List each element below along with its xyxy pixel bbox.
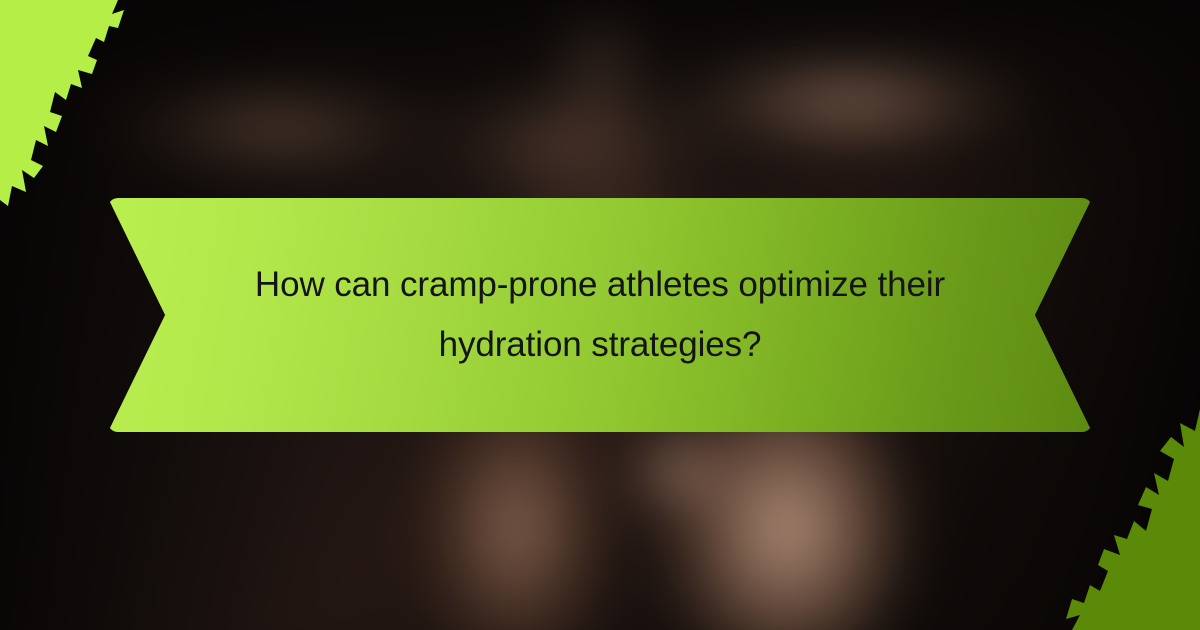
question-card: How can cramp-prone athletes optimize th… bbox=[0, 0, 1200, 630]
ribbon-content: How can cramp-prone athletes optimize th… bbox=[108, 198, 1092, 432]
question-title: How can cramp-prone athletes optimize th… bbox=[228, 255, 972, 375]
question-ribbon: How can cramp-prone athletes optimize th… bbox=[108, 198, 1092, 432]
